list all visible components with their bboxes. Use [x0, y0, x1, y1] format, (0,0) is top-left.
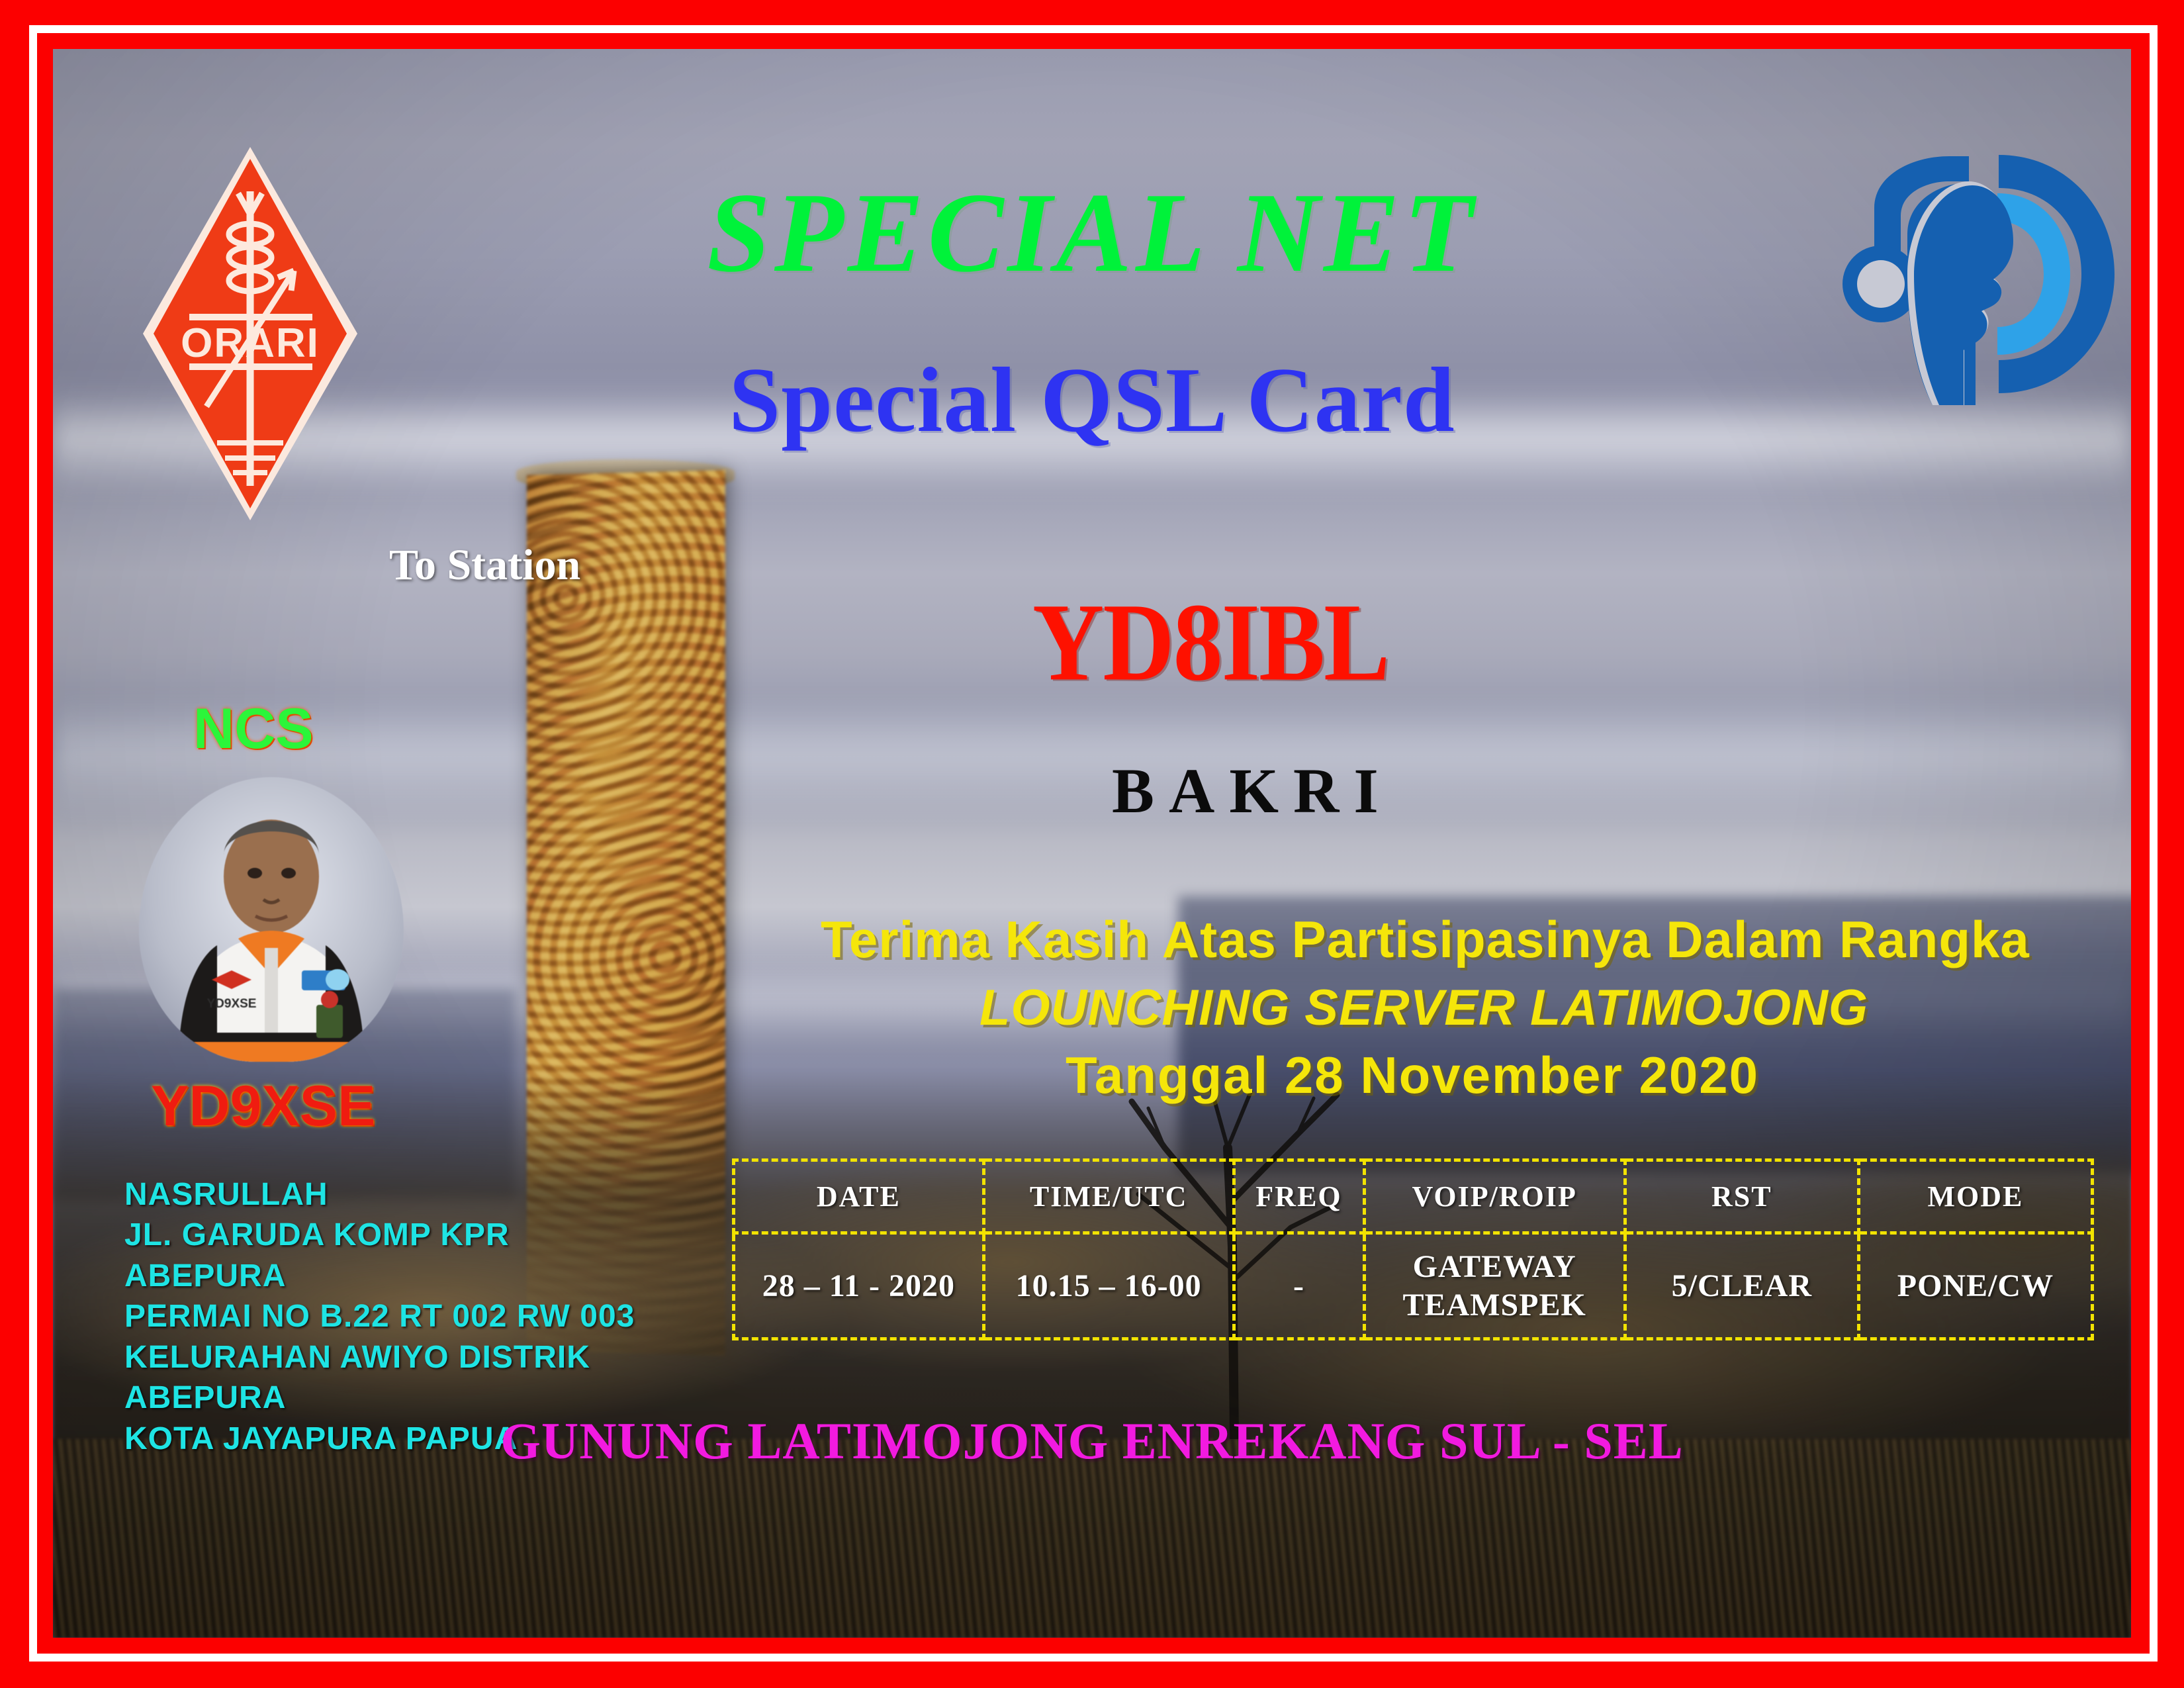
table-row: 28 – 11 - 2020 10.15 – 16-00 - GATEWAY T…: [734, 1233, 2093, 1339]
to-station-label: To Station: [389, 540, 580, 590]
column-header-time: TIME/UTC: [983, 1160, 1234, 1233]
table-header-row: DATE TIME/UTC FREQ VOIP/ROIP RST MODE: [734, 1160, 2093, 1233]
card-subtitle: Special QSL Card: [53, 347, 2131, 453]
event-date-line: Tanggal 28 November 2020: [1066, 1045, 1759, 1105]
cell-mode: PONE/CW: [1858, 1233, 2092, 1339]
recipient-callsign: YD8IBL: [1032, 579, 1388, 706]
page-title: SPECIAL NET: [53, 168, 2131, 299]
cell-rst: 5/CLEAR: [1625, 1233, 1858, 1339]
address-line: ABEPURA: [124, 1256, 635, 1296]
cell-time: 10.15 – 16-00: [983, 1233, 1234, 1339]
recipient-operator-name: BAKRI: [1112, 754, 1393, 827]
column-header-voip: VOIP/ROIP: [1364, 1160, 1625, 1233]
address-line: PERMAI NO B.22 RT 002 RW 003: [124, 1296, 635, 1336]
cell-date: 28 – 11 - 2020: [734, 1233, 984, 1339]
column-header-date: DATE: [734, 1160, 984, 1233]
event-name-line: LOUNCHING SERVER LATIMOJONG: [979, 979, 1868, 1037]
column-header-rst: RST: [1625, 1160, 1858, 1233]
cell-voip-line1: GATEWAY: [1413, 1249, 1576, 1284]
cell-freq: -: [1234, 1233, 1364, 1339]
ncs-callsign: YD9XSE: [151, 1074, 375, 1139]
location-caption: GUNUNG LATIMOJONG ENREKANG SUL - SEL: [53, 1411, 2131, 1471]
ncs-label: NCS: [193, 696, 314, 762]
column-header-freq: FREQ: [1234, 1160, 1364, 1233]
thanks-message-line1: Terima Kasih Atas Partisipasinya Dalam R…: [821, 910, 2030, 970]
qsl-card-frame: ORARI: [0, 0, 2184, 1688]
qso-log-table: DATE TIME/UTC FREQ VOIP/ROIP RST MODE 28…: [732, 1158, 2094, 1340]
svg-text:YD9XSE: YD9XSE: [207, 997, 257, 1011]
motto-text: "AMATIR RADIO ADALAH PROGRESIVE": [132, 1631, 1115, 1638]
cell-voip: GATEWAY TEAMSPEK: [1364, 1233, 1625, 1339]
card-photo-background: ORARI: [53, 49, 2131, 1638]
address-line: NASRULLAH: [124, 1174, 635, 1215]
address-line: JL. GARUDA KOMP KPR: [124, 1215, 635, 1255]
address-line: KELURAHAN AWIYO DISTRIK: [124, 1337, 635, 1378]
column-header-mode: MODE: [1858, 1160, 2092, 1233]
cell-voip-line2: TEAMSPEK: [1402, 1288, 1586, 1323]
website-address: Address : amatir.latimojong.com: [1317, 1631, 2005, 1638]
